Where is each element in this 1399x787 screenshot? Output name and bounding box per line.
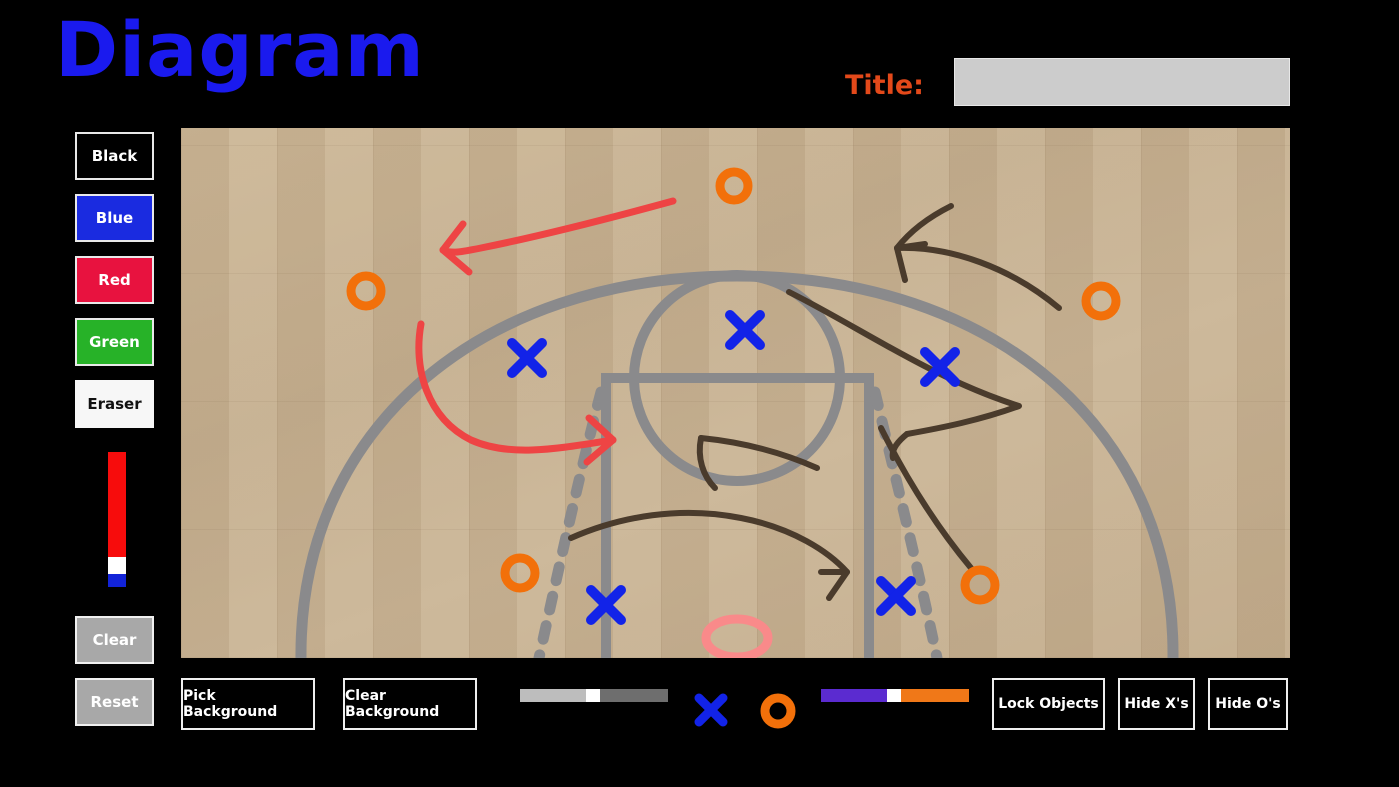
pick-background-button[interactable]: Pick Background: [181, 678, 315, 730]
page-title: Diagram: [55, 12, 425, 88]
color-button-red[interactable]: Red: [75, 256, 154, 304]
hide-os-label: Hide O's: [1215, 696, 1280, 712]
color-button-black[interactable]: Black: [75, 132, 154, 180]
black-curve-right-top: [897, 248, 1059, 308]
x-marker[interactable]: [512, 343, 542, 373]
o-marker[interactable]: [965, 570, 995, 600]
black-curve-baseline-head: [821, 572, 847, 598]
size-slider[interactable]: [520, 689, 668, 702]
black-curve-baseline: [571, 513, 847, 572]
color-button-red-label: Red: [98, 271, 130, 289]
eraser-button[interactable]: Eraser: [75, 380, 154, 428]
hide-os-button[interactable]: Hide O's: [1208, 678, 1288, 730]
color-button-blue-label: Blue: [96, 209, 133, 227]
size-slider-handle[interactable]: [586, 689, 600, 702]
color-button-black-label: Black: [92, 147, 138, 165]
clear-button[interactable]: Clear: [75, 616, 154, 664]
o-marker[interactable]: [351, 276, 381, 306]
clear-button-label: Clear: [93, 631, 137, 649]
reset-button[interactable]: Reset: [75, 678, 154, 726]
x-tool-icon[interactable]: [691, 690, 731, 730]
title-input[interactable]: [954, 58, 1290, 106]
ratio-slider-track: [901, 689, 969, 702]
black-zigzag: [789, 292, 1019, 434]
o-marker[interactable]: [1086, 286, 1116, 316]
o-tool-icon[interactable]: [758, 691, 798, 731]
color-button-blue[interactable]: Blue: [75, 194, 154, 242]
black-annotations: [571, 206, 1059, 598]
size-slider-track: [600, 689, 668, 702]
color-button-green[interactable]: Green: [75, 318, 154, 366]
pick-background-label: Pick Background: [183, 688, 313, 720]
court-drawing: [181, 128, 1290, 658]
court-canvas[interactable]: [181, 128, 1290, 658]
lock-objects-label: Lock Objects: [998, 696, 1099, 712]
red-arrow-1-shaft: [443, 201, 673, 252]
size-slider-fill: [520, 689, 586, 702]
black-curve-mid: [701, 438, 817, 468]
hide-xs-button[interactable]: Hide X's: [1118, 678, 1195, 730]
ratio-slider-handle[interactable]: [887, 689, 901, 702]
ratio-slider[interactable]: [821, 689, 969, 702]
thickness-slider[interactable]: [108, 452, 126, 587]
red-annotations: [419, 201, 673, 462]
lock-objects-button[interactable]: Lock Objects: [992, 678, 1105, 730]
thickness-slider-track: [108, 574, 126, 587]
hide-xs-label: Hide X's: [1124, 696, 1188, 712]
color-button-green-label: Green: [89, 333, 140, 351]
o-markers[interactable]: [351, 172, 1116, 600]
x-marker[interactable]: [881, 581, 911, 611]
o-marker[interactable]: [505, 558, 535, 588]
thickness-slider-fill: [108, 452, 126, 557]
diagram-app: Diagram Title: Black Blue Red Green Eras…: [0, 0, 1399, 787]
black-curve-right-lower: [881, 428, 971, 568]
thickness-slider-handle[interactable]: [108, 557, 126, 574]
clear-background-button[interactable]: Clear Background: [343, 678, 477, 730]
eraser-button-label: Eraser: [87, 395, 141, 413]
clear-background-label: Clear Background: [345, 688, 475, 720]
reset-button-label: Reset: [91, 693, 139, 711]
pink-ellipse-marker[interactable]: [706, 619, 768, 657]
title-label: Title:: [845, 70, 924, 101]
x-marker[interactable]: [730, 315, 760, 345]
ratio-slider-fill: [821, 689, 887, 702]
o-marker[interactable]: [720, 172, 748, 200]
